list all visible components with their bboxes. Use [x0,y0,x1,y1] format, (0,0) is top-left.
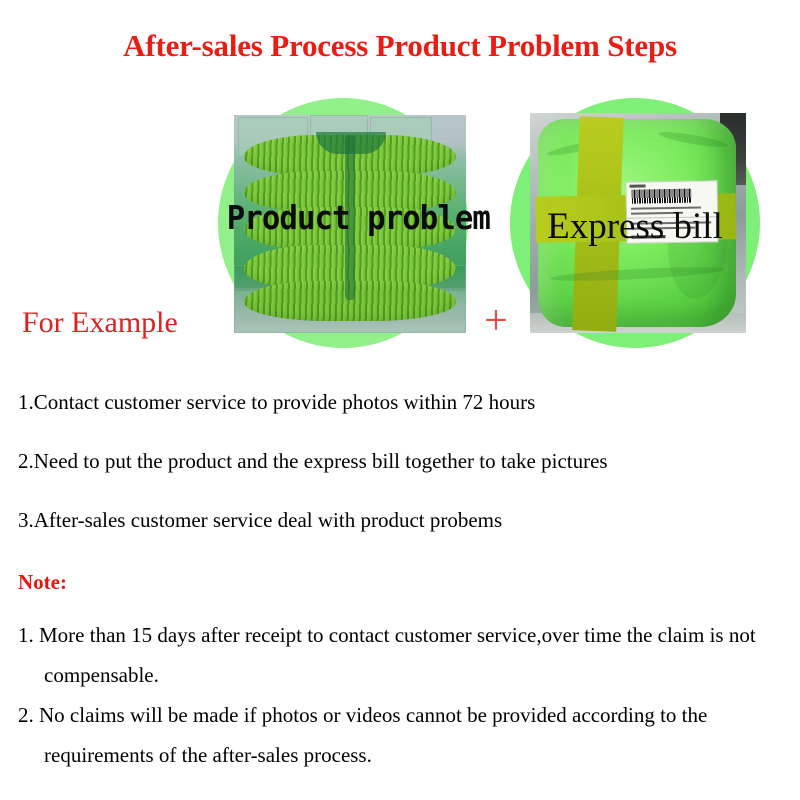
note-list: 1. More than 15 days after receipt to co… [18,615,790,775]
step-item-2: 2.Need to put the product and the expres… [18,449,788,473]
step-item-3: 3.After-sales customer service deal with… [18,508,788,532]
page-title: After-sales Process Product Problem Step… [0,28,800,64]
plus-icon: + [478,301,514,341]
note-item-1: 1. More than 15 days after receipt to co… [18,615,790,695]
express-bill-photo: Express bill [510,98,760,348]
product-problem-caption: Product problem [227,198,460,237]
step-item-1: 1.Contact customer service to provide ph… [18,390,788,414]
note-item-2: 2. No claims will be made if photos or v… [18,695,790,775]
label-header-mark [630,184,646,187]
example-row: For Example Product problem + [0,98,800,350]
for-example-label: For Example [22,306,178,340]
express-bill-caption: Express bill [510,205,760,248]
product-problem-photo: Product problem [218,98,468,348]
barcode-icon [632,189,692,204]
note-heading: Note: [18,570,67,595]
steps-list: 1.Contact customer service to provide ph… [18,390,788,567]
bag-crease [658,129,728,150]
